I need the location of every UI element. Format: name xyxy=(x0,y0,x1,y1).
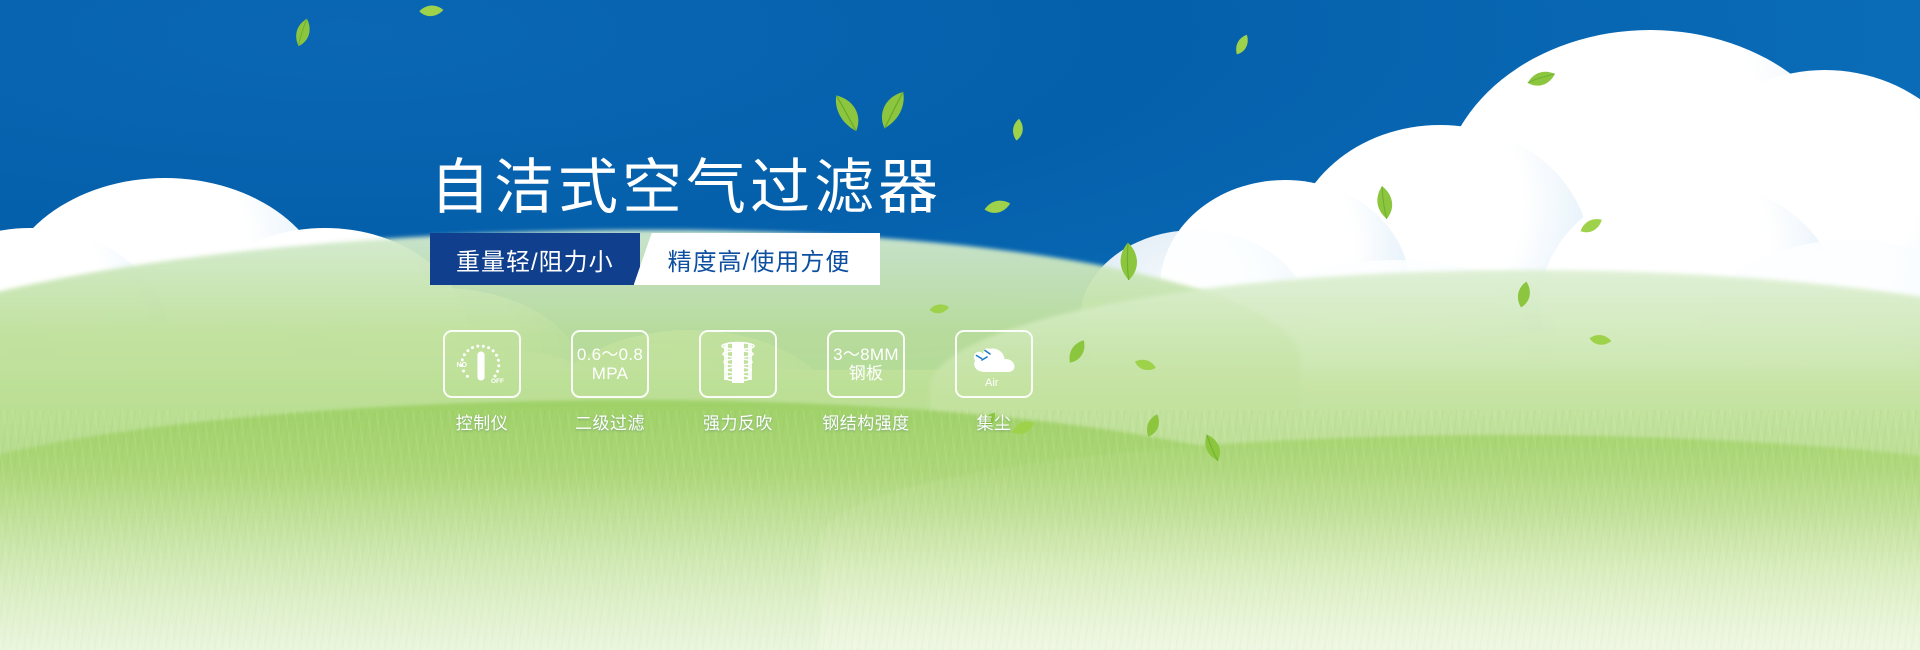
steel-plate-text-icon: 3～8MM 钢板 xyxy=(833,345,899,383)
banner-content: 自洁式空气过滤器 重量轻/阻力小 精度高/使用方便 xyxy=(0,0,1920,650)
title-leaf-icon xyxy=(871,85,909,133)
feature-item[interactable]: Air 集尘 xyxy=(950,330,1038,434)
feature-caption: 钢结构强度 xyxy=(822,409,910,434)
product-banner: 自洁式空气过滤器 重量轻/阻力小 精度高/使用方便 xyxy=(0,0,1920,650)
pressure-text-icon: 0.6～0.8 MPA xyxy=(577,345,643,383)
svg-text:Air: Air xyxy=(985,377,999,389)
subtitle-secondary-badge: 精度高/使用方便 xyxy=(634,233,881,285)
svg-text:NO: NO xyxy=(457,362,468,369)
feature-box: NO OFF xyxy=(443,330,521,398)
feature-line1: 3～8MM xyxy=(833,345,899,364)
feature-line1: 0.6～0.8 xyxy=(577,345,643,364)
feature-caption: 控制仪 xyxy=(456,409,509,434)
feature-line2: MPA xyxy=(577,364,643,383)
dial-gauge-icon: NO OFF xyxy=(451,338,513,390)
feature-box: 0.6～0.8 MPA xyxy=(571,330,649,398)
feature-list: NO OFF 控制仪 0.6～0.8 MPA 二级过滤 xyxy=(438,330,1038,434)
feature-caption: 二级过滤 xyxy=(575,409,645,434)
feature-item[interactable]: 强力反吹 xyxy=(694,330,782,434)
svg-text:OFF: OFF xyxy=(491,378,504,385)
subtitle-bar: 重量轻/阻力小 精度高/使用方便 xyxy=(430,233,880,285)
feature-item[interactable]: 0.6～0.8 MPA 二级过滤 xyxy=(566,330,654,434)
title-leaf-icon xyxy=(831,89,870,136)
feature-caption: 集尘 xyxy=(977,409,1012,434)
feature-line2: 钢板 xyxy=(833,364,899,383)
feature-box xyxy=(699,330,777,398)
feature-box: Air xyxy=(955,330,1033,398)
subtitle-primary-badge: 重量轻/阻力小 xyxy=(430,233,640,285)
feature-caption: 强力反吹 xyxy=(703,409,773,434)
filter-element-icon xyxy=(707,338,769,390)
air-cloud-icon: Air xyxy=(963,338,1025,390)
page-title: 自洁式空气过滤器 xyxy=(430,158,942,218)
feature-item[interactable]: NO OFF 控制仪 xyxy=(438,330,526,434)
feature-item[interactable]: 3～8MM 钢板 钢结构强度 xyxy=(822,330,910,434)
feature-box: 3～8MM 钢板 xyxy=(827,330,905,398)
